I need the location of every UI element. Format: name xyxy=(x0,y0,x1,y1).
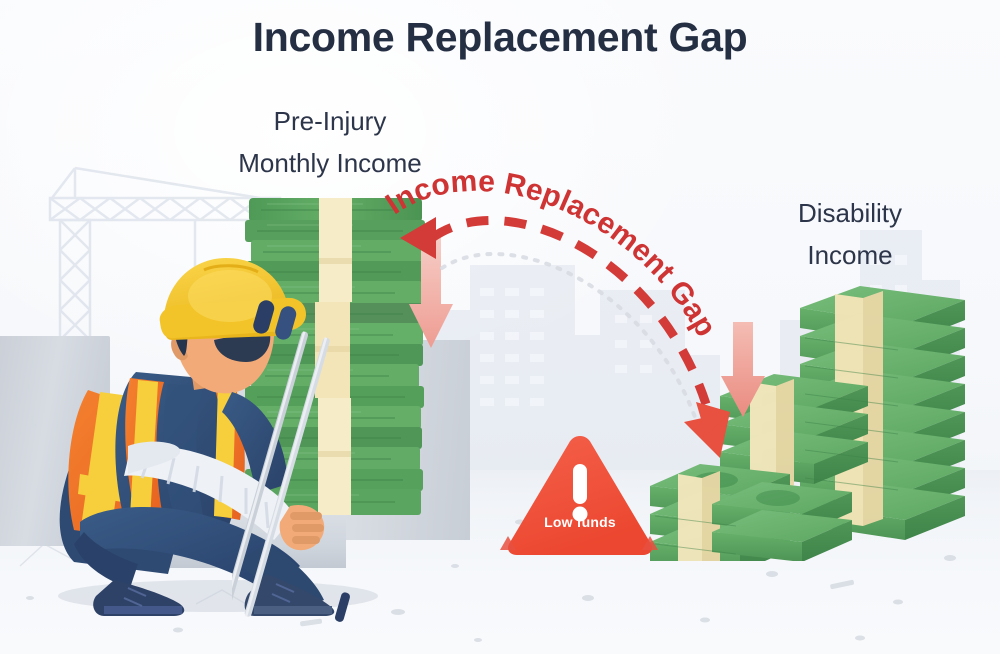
warning-caption: Low funds xyxy=(505,514,655,530)
income-gap-arc-label: Income Replacement Gap xyxy=(380,150,800,380)
page-title: Income Replacement Gap xyxy=(0,14,1000,61)
pre-injury-income-label: Pre-Injury Monthly Income xyxy=(185,100,475,184)
disability-income-label: Disability Income xyxy=(740,192,960,276)
pre-injury-label-line2: Monthly Income xyxy=(185,142,475,184)
pre-injury-label-line1: Pre-Injury xyxy=(185,100,475,142)
arc-label-text: Income Replacement Gap xyxy=(380,165,722,343)
warning-ground-markers xyxy=(494,534,664,554)
crutches xyxy=(232,296,402,626)
disability-label-line1: Disability xyxy=(740,192,960,234)
disability-label-line2: Income xyxy=(740,234,960,276)
infographic-canvas: Income Replacement Gap Low funds Income … xyxy=(0,0,1000,654)
